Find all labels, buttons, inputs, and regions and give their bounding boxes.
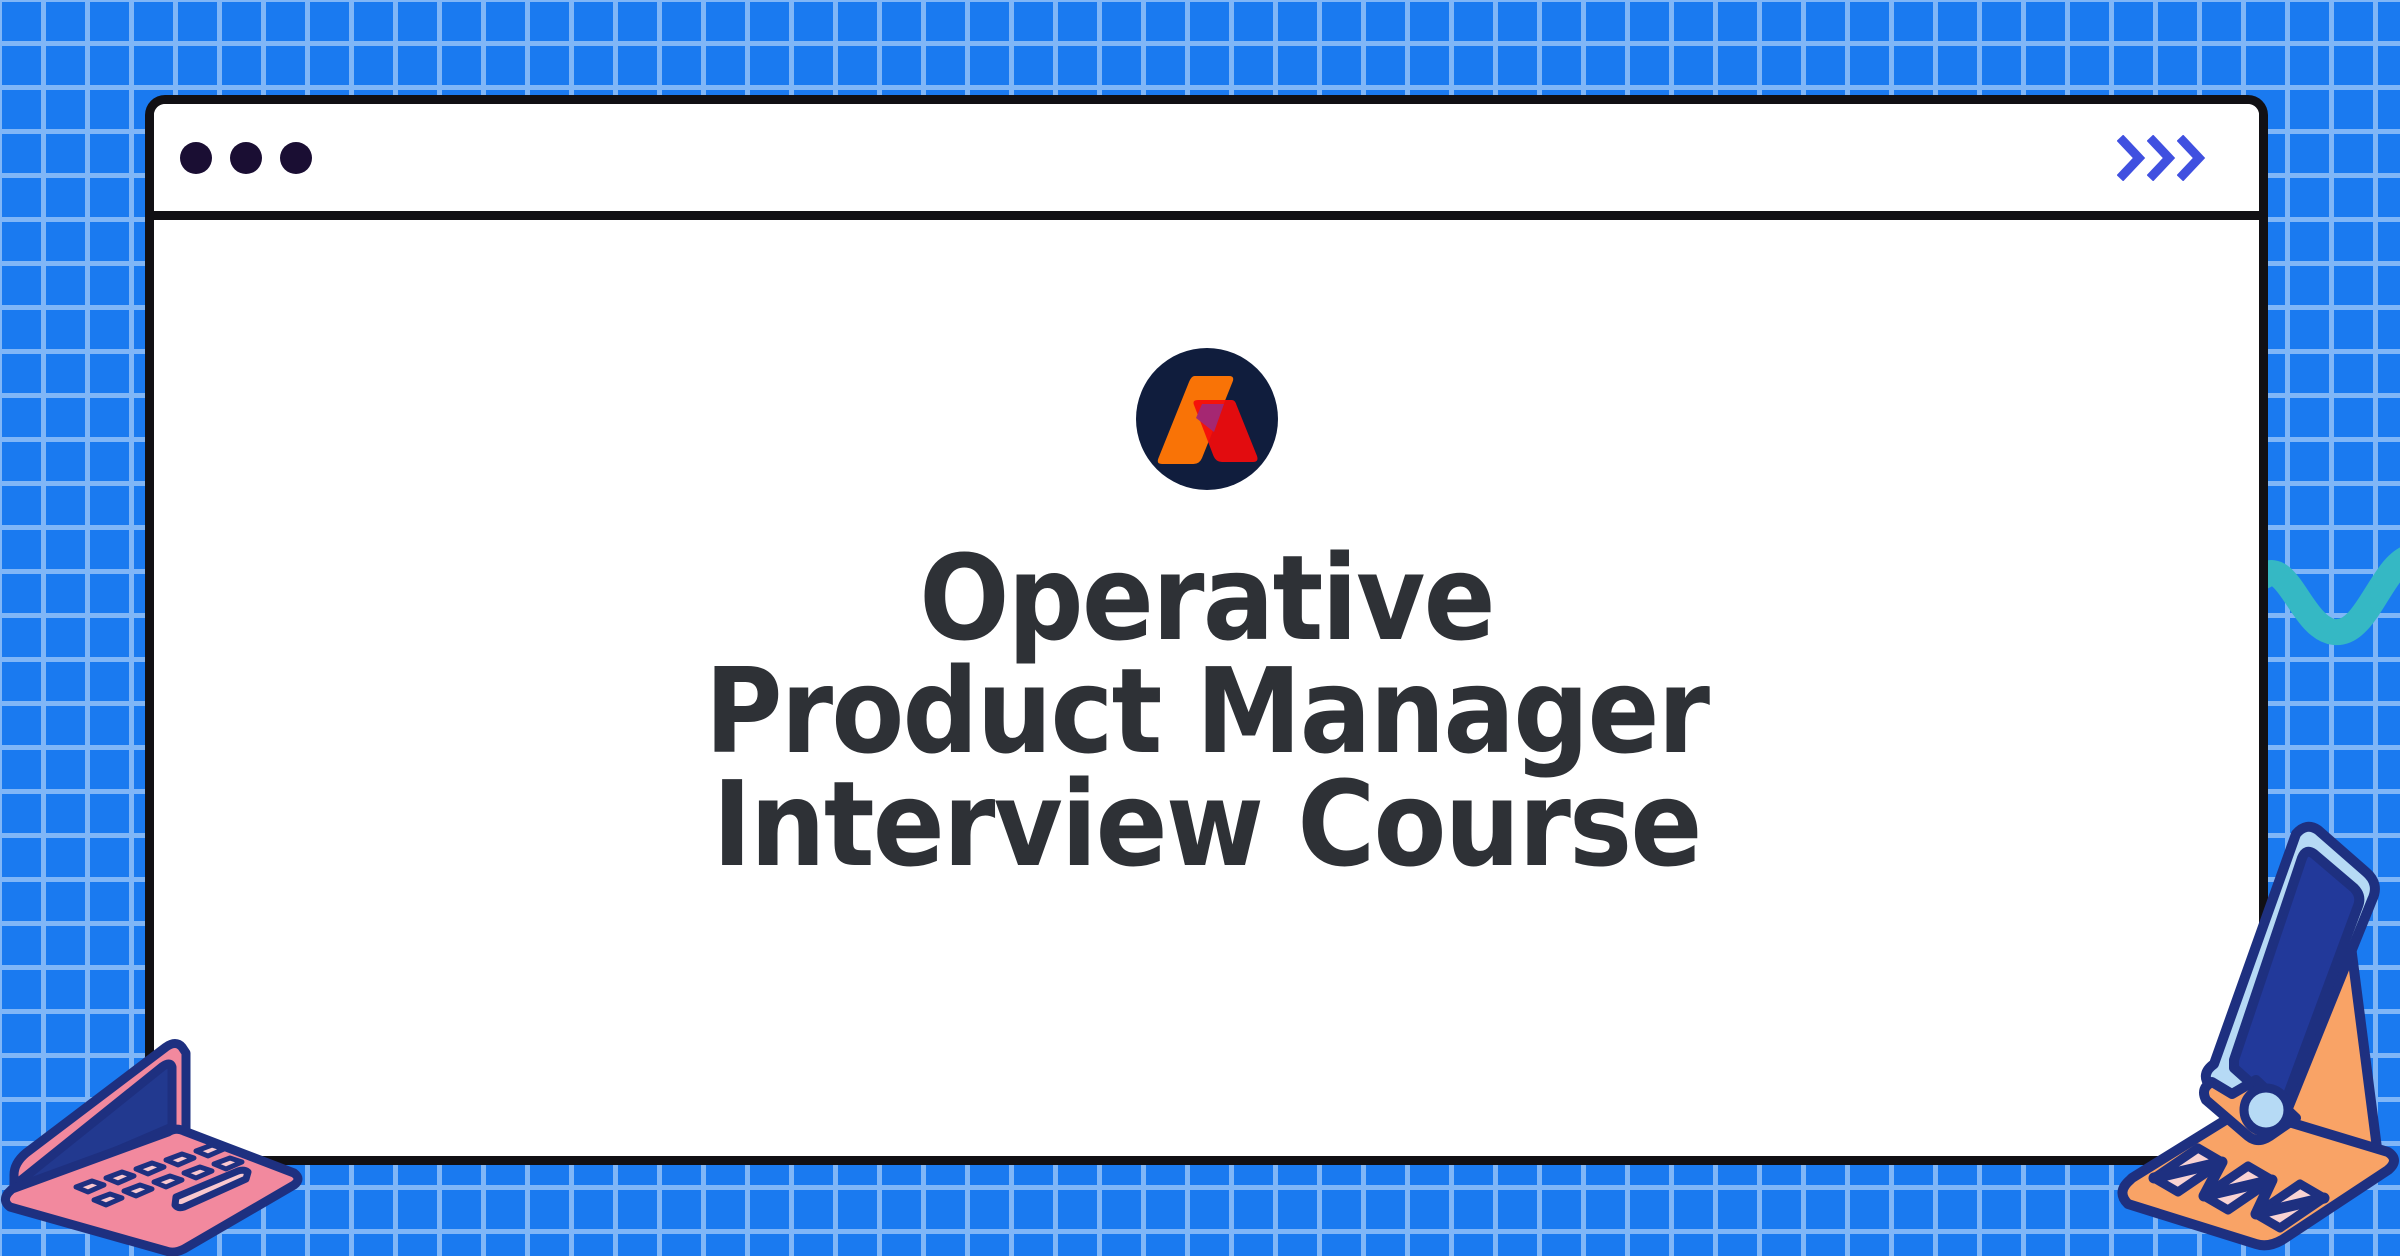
maximize-button[interactable] — [280, 142, 312, 174]
page-title-line-1: Operative — [259, 542, 2154, 655]
close-button[interactable] — [180, 142, 212, 174]
chevron-right-icon — [2147, 135, 2177, 181]
browser-window: Operative Product Manager Interview Cour… — [145, 95, 2268, 1165]
chevron-right-icon — [2117, 135, 2147, 181]
chevron-right-icon — [2177, 135, 2207, 181]
teal-squiggle-icon — [2262, 528, 2400, 678]
window-content: Operative Product Manager Interview Cour… — [154, 220, 2259, 1156]
page-title: Operative Product Manager Interview Cour… — [259, 542, 2154, 881]
window-controls — [180, 142, 312, 174]
minimize-button[interactable] — [230, 142, 262, 174]
forward-nav-button[interactable] — [2117, 135, 2207, 181]
browser-titlebar — [154, 104, 2259, 220]
page-background: Operative Product Manager Interview Cour… — [0, 0, 2400, 1256]
page-title-line-2: Product Manager — [259, 655, 2154, 768]
brand-logo-icon — [1136, 348, 1278, 490]
page-title-line-3: Interview Course — [259, 768, 2154, 881]
